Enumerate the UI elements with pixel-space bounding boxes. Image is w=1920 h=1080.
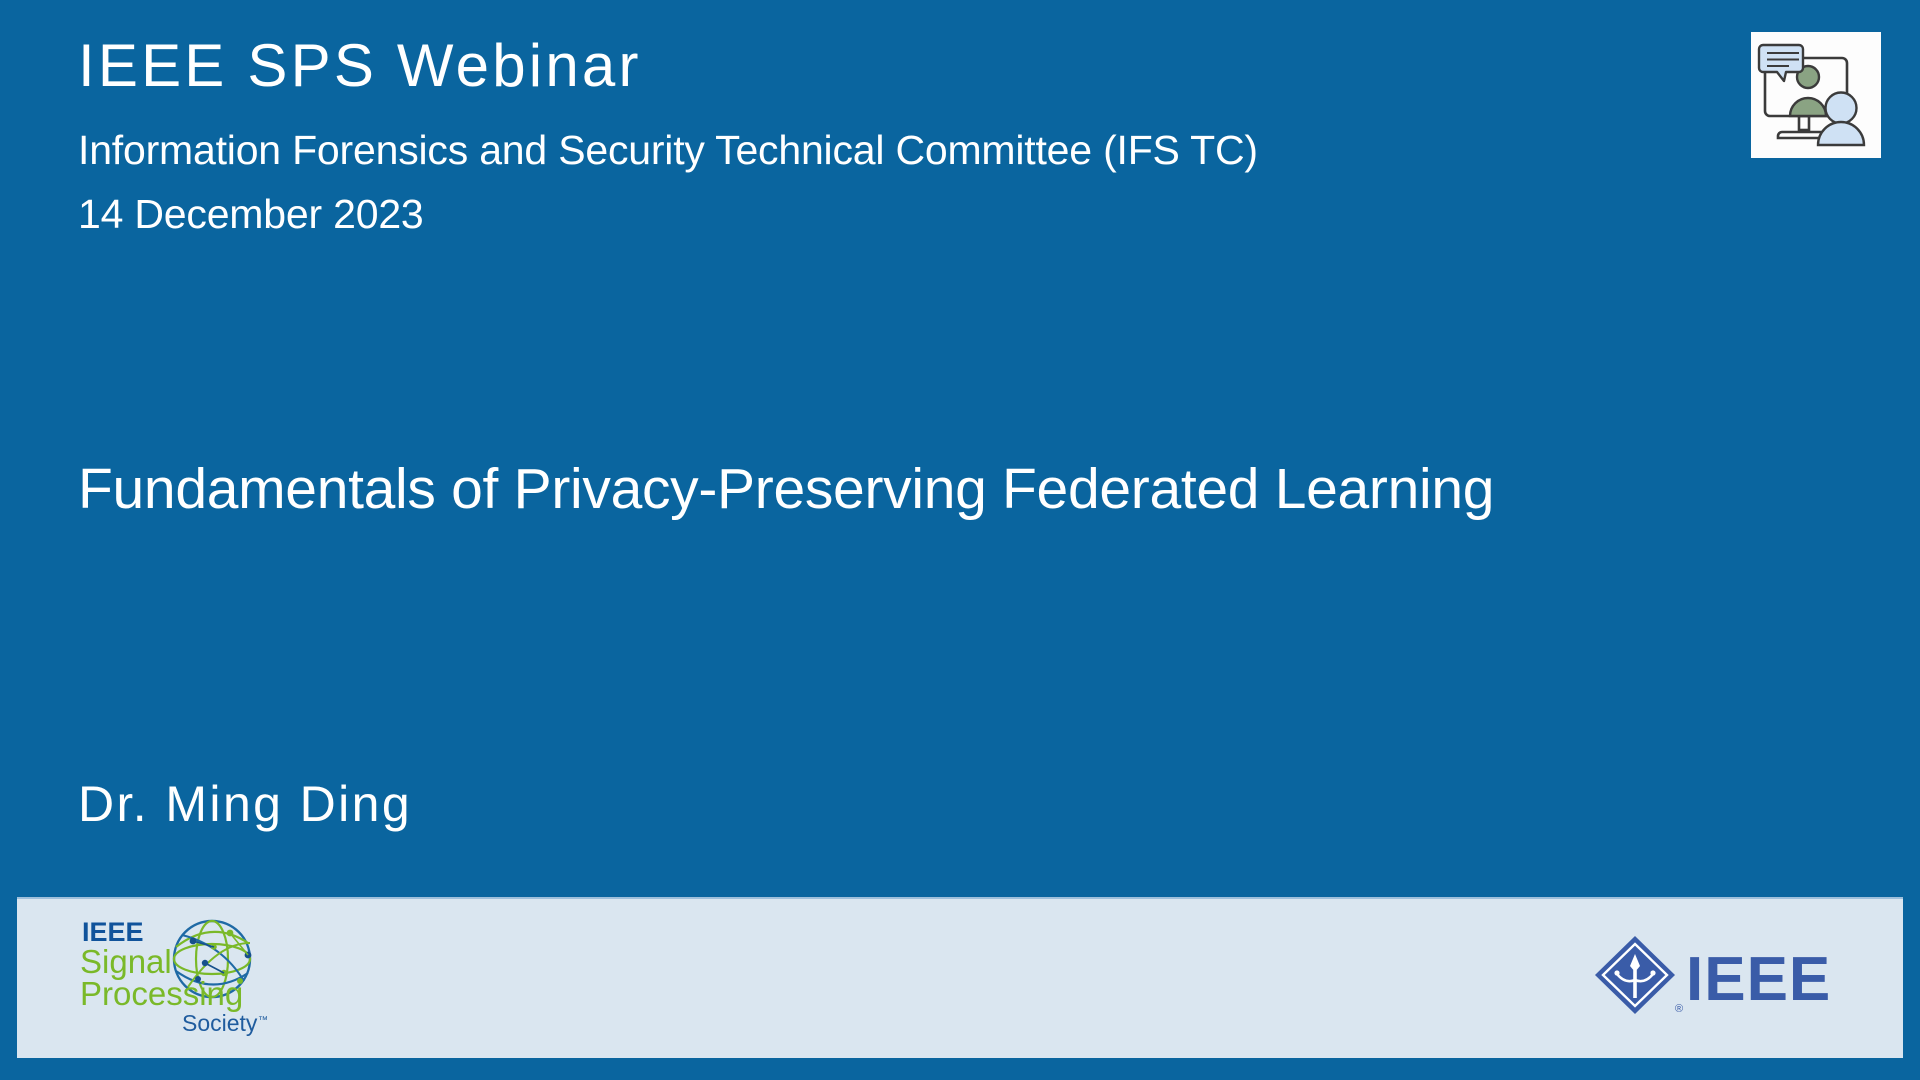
footer-bar: IEEE Signal Processing Society ™ — [17, 897, 1903, 1058]
webinar-icon-container — [1751, 32, 1881, 158]
ieee-diamond-icon: ® — [1595, 936, 1683, 1015]
sps-logo-processing-text: Processing — [80, 975, 243, 1012]
ieee-sps-logo: IEEE Signal Processing Society ™ — [62, 911, 282, 1047]
speaker-name: Dr. Ming Ding — [78, 775, 412, 833]
event-date: 14 December 2023 — [78, 192, 1718, 238]
ieee-registered-mark: ® — [1675, 1003, 1683, 1015]
webinar-monitor-icon — [1751, 32, 1881, 158]
sps-logo-trademark: ™ — [258, 1015, 268, 1026]
header-block: IEEE SPS Webinar Information Forensics a… — [78, 34, 1718, 237]
presentation-title-slide: IEEE SPS Webinar Information Forensics a… — [0, 0, 1920, 1080]
committee-subtitle: Information Forensics and Security Techn… — [78, 128, 1718, 174]
sps-logo-society-text: Society — [182, 1010, 258, 1036]
presentation-title: Fundamentals of Privacy-Preserving Feder… — [78, 457, 1838, 523]
ieee-wordmark: IEEE — [1686, 945, 1831, 1014]
ieee-master-brand-logo: ® IEEE — [1591, 932, 1841, 1018]
page-title: IEEE SPS Webinar — [78, 34, 1718, 98]
